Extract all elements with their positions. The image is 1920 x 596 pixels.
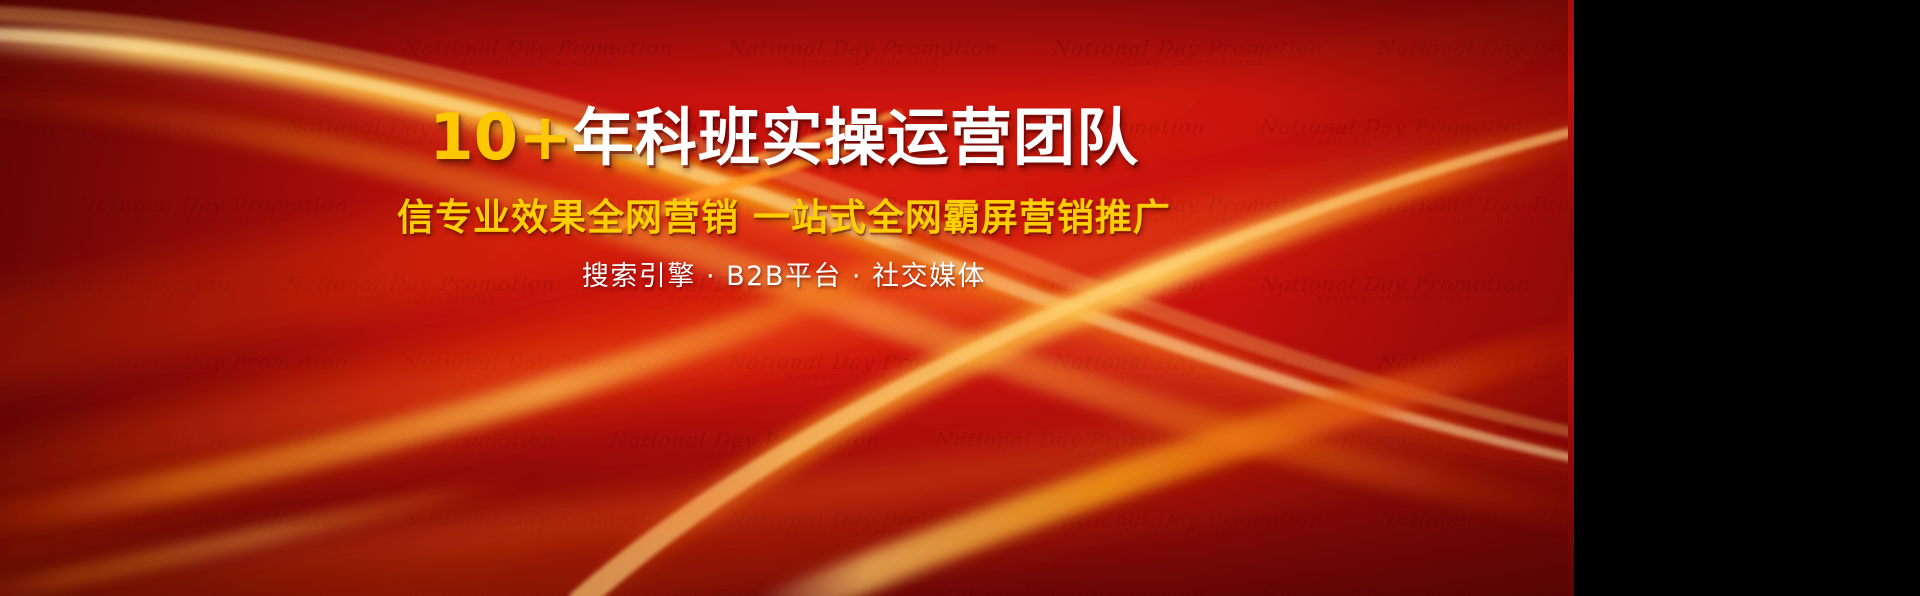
watermark-script-text: National Day Promotion <box>284 587 557 596</box>
watermark-script-text: National Day Promotion <box>77 352 350 373</box>
watermark-cell: National Day PromotionNATIONAL DAY PROMO… <box>285 430 556 460</box>
watermark-script-text: National Day Promotion <box>284 430 557 451</box>
watermark-caps-text: NATIONAL DAY PROMOTION <box>1378 217 1568 225</box>
watermark-row: National Day PromotionNATIONAL DAY PROMO… <box>0 430 1568 460</box>
watermark-script-text: National Day Promotion <box>1377 352 1568 373</box>
watermark-script-text: National Day Promotion <box>727 352 1000 373</box>
watermark-caps-text: NATIONAL DAY PROMOTION <box>1378 531 1568 539</box>
ribbon-thin-line-mid <box>600 144 854 236</box>
watermark-script-text: National Day Promotion <box>1052 38 1325 59</box>
watermark-script-text: National Day Promotion <box>1377 38 1568 59</box>
ribbon-center-swoosh <box>560 104 1568 596</box>
watermark-cell: National Day PromotionNATIONAL DAY PROMO… <box>1378 38 1568 68</box>
watermark-cell: National Day PromotionNATIONAL DAY PROMO… <box>1053 509 1324 539</box>
watermark-caps-text: NATIONAL DAY PROMOTION <box>403 217 674 225</box>
ribbon-filament-top <box>0 4 1568 450</box>
watermark-caps-text: NATIONAL DAY PROMOTION <box>285 296 556 304</box>
watermark-script-text: National Day Promotion <box>1377 195 1568 216</box>
watermark-cell: National Day PromotionNATIONAL DAY PROMO… <box>0 274 231 304</box>
watermark-script-text: National Day Promotion <box>609 117 882 138</box>
watermark-caps-text: NATIONAL DAY PROMOTION <box>610 139 881 147</box>
banner-artwork: National Day PromotionNATIONAL DAY PROMO… <box>0 0 1568 596</box>
banner-root: National Day PromotionNATIONAL DAY PROMO… <box>0 0 1920 596</box>
watermark-script-text: National Day Promotion <box>0 274 232 295</box>
watermark-script-text: National Day Promotion <box>1052 352 1325 373</box>
watermark-cell: National Day PromotionNATIONAL DAY PROMO… <box>78 352 349 382</box>
watermark-row: National Day PromotionNATIONAL DAY PROMO… <box>0 38 1568 68</box>
watermark-cell: National Day PromotionNATIONAL DAY PROMO… <box>285 587 556 596</box>
sheen-band-1 <box>0 100 1568 596</box>
watermark-cell: National Day PromotionNATIONAL DAY PROMO… <box>0 430 231 460</box>
golden-ribbon-layer <box>0 0 1568 596</box>
watermark-cell: National Day PromotionNATIONAL DAY PROMO… <box>78 509 349 539</box>
watermark-cell: National Day PromotionNATIONAL DAY PROMO… <box>1378 352 1568 382</box>
watermark-caps-text: NATIONAL DAY PROMOTION <box>1053 217 1324 225</box>
watermark-caps-text: NATIONAL DAY PROMOTION <box>1260 296 1531 304</box>
watermark-caps-text: NATIONAL DAY PROMOTION <box>728 374 999 382</box>
watermark-cell: National Day PromotionNATIONAL DAY PROMO… <box>1378 195 1568 225</box>
watermark-script-text: National Day Promotion <box>402 509 675 530</box>
watermark-script-text: National Day Promotion <box>284 274 557 295</box>
watermark-script-text: National Day Promotion <box>934 587 1207 596</box>
ribbon-lower-right <box>760 306 1568 596</box>
ribbon-svg <box>0 0 1568 596</box>
watermark-script-text: National Day Promotion <box>609 430 882 451</box>
watermark-script-text: National Day Promotion <box>0 587 232 596</box>
watermark-caps-text: NATIONAL DAY PROMOTION <box>78 374 349 382</box>
watermark-cell: National Day PromotionNATIONAL DAY PROMO… <box>1260 587 1531 596</box>
watermark-script-text: National Day Promotion <box>77 195 350 216</box>
ribbon-thin-line-mid2 <box>740 110 902 168</box>
watermark-cell: National Day PromotionNATIONAL DAY PROMO… <box>403 352 674 382</box>
watermark-caps-text: NATIONAL DAY PROMOTION <box>1378 60 1568 68</box>
watermark-cell: National Day PromotionNATIONAL DAY PROMO… <box>1260 117 1531 147</box>
tagline: 搜索引擎 · B2B平台 · 社交媒体 <box>0 260 1568 294</box>
watermark-caps-text: NATIONAL DAY PROMOTION <box>935 296 1206 304</box>
watermark-script-text: National Day Promotion <box>77 38 350 59</box>
watermark-cell: National Day PromotionNATIONAL DAY PROMO… <box>728 38 999 68</box>
banner-text-block: 10+年科班实操运营团队 信专业效果全网营销 一站式全网霸屏营销推广 搜索引擎 … <box>0 0 1568 596</box>
watermark-cell: National Day PromotionNATIONAL DAY PROMO… <box>610 430 881 460</box>
watermark-script-text: National Day Promotion <box>934 274 1207 295</box>
watermark-cell: National Day PromotionNATIONAL DAY PROMO… <box>403 38 674 68</box>
watermark-script-text: National Day Promotion <box>0 430 232 451</box>
watermark-caps-text: NATIONAL DAY PROMOTION <box>728 217 999 225</box>
watermark-cell: National Day PromotionNATIONAL DAY PROMO… <box>728 195 999 225</box>
watermark-cell: National Day PromotionNATIONAL DAY PROMO… <box>403 195 674 225</box>
watermark-caps-text: NATIONAL DAY PROMOTION <box>935 139 1206 147</box>
watermark-script-text: National Day Promotion <box>609 274 882 295</box>
watermark-caps-text: NATIONAL DAY PROMOTION <box>0 296 231 304</box>
watermark-cell: National Day PromotionNATIONAL DAY PROMO… <box>728 509 999 539</box>
ribbon-center-highlight <box>568 110 1568 596</box>
watermark-cell: National Day PromotionNATIONAL DAY PROMO… <box>285 117 556 147</box>
watermark-cell: National Day PromotionNATIONAL DAY PROMO… <box>0 587 231 596</box>
watermark-script-text: National Day Promotion <box>727 38 1000 59</box>
watermark-cell: National Day PromotionNATIONAL DAY PROMO… <box>285 274 556 304</box>
watermark-caps-text: NATIONAL DAY PROMOTION <box>1260 139 1531 147</box>
artwork-right-edge-strip <box>1568 0 1574 596</box>
subheadline: 信专业效果全网营销 一站式全网霸屏营销推广 <box>0 196 1568 240</box>
watermark-cell: National Day PromotionNATIONAL DAY PROMO… <box>610 117 881 147</box>
watermark-cell: National Day PromotionNATIONAL DAY PROMO… <box>610 587 881 596</box>
watermark-row: National Day PromotionNATIONAL DAY PROMO… <box>0 352 1568 382</box>
watermark-script-text: National Day Promotion <box>402 352 675 373</box>
watermark-caps-text: NATIONAL DAY PROMOTION <box>935 452 1206 460</box>
watermark-cell: National Day PromotionNATIONAL DAY PROMO… <box>935 117 1206 147</box>
watermark-row: National Day PromotionNATIONAL DAY PROMO… <box>0 509 1568 539</box>
watermark-caps-text: NATIONAL DAY PROMOTION <box>610 296 881 304</box>
watermark-cell: National Day PromotionNATIONAL DAY PROMO… <box>1260 430 1531 460</box>
watermark-caps-text: NATIONAL DAY PROMOTION <box>728 531 999 539</box>
ribbon-bottom-left <box>0 468 534 596</box>
ribbon-glow-top <box>0 34 1568 516</box>
watermark-caps-text: NATIONAL DAY PROMOTION <box>1260 452 1531 460</box>
watermark-script-text: National Day Promotion <box>727 195 1000 216</box>
watermark-caps-text: NATIONAL DAY PROMOTION <box>0 452 231 460</box>
watermark-layer: National Day PromotionNATIONAL DAY PROMO… <box>0 0 1568 596</box>
watermark-row: National Day PromotionNATIONAL DAY PROMO… <box>0 195 1568 225</box>
ribbon-bottom-band <box>0 358 1568 596</box>
ribbon-cross-swoosh <box>0 166 1056 544</box>
watermark-script-text: National Day Promotion <box>1259 117 1532 138</box>
watermark-cell: National Day PromotionNATIONAL DAY PROMO… <box>935 274 1206 304</box>
watermark-script-text: National Day Promotion <box>934 430 1207 451</box>
watermark-cell: National Day PromotionNATIONAL DAY PROMO… <box>78 195 349 225</box>
watermark-cell: National Day PromotionNATIONAL DAY PROMO… <box>403 509 674 539</box>
watermark-script-text: National Day Promotion <box>402 195 675 216</box>
watermark-cell: National Day PromotionNATIONAL DAY PROMO… <box>935 430 1206 460</box>
watermark-cell: National Day PromotionNATIONAL DAY PROMO… <box>1053 195 1324 225</box>
watermark-row: National Day PromotionNATIONAL DAY PROMO… <box>0 117 1568 147</box>
background-side-shading <box>0 0 1568 596</box>
watermark-cell: National Day PromotionNATIONAL DAY PROMO… <box>610 274 881 304</box>
canvas-right-filler <box>1568 0 1920 596</box>
watermark-script-text: National Day Promotion <box>1259 587 1532 596</box>
watermark-caps-text: NATIONAL DAY PROMOTION <box>403 60 674 68</box>
watermark-script-text: National Day Promotion <box>77 509 350 530</box>
watermark-script-text: National Day Promotion <box>727 509 1000 530</box>
watermark-caps-text: NATIONAL DAY PROMOTION <box>285 452 556 460</box>
ribbon-top-secondary <box>0 86 1568 538</box>
watermark-script-text: National Day Promotion <box>609 587 882 596</box>
watermark-cell: National Day PromotionNATIONAL DAY PROMO… <box>0 117 231 147</box>
watermark-caps-text: NATIONAL DAY PROMOTION <box>78 531 349 539</box>
headline-number: 10+ <box>429 101 572 175</box>
watermark-script-text: National Day Promotion <box>1259 274 1532 295</box>
watermark-caps-text: NATIONAL DAY PROMOTION <box>1053 374 1324 382</box>
watermark-script-text: National Day Promotion <box>1052 509 1325 530</box>
watermark-cell: National Day PromotionNATIONAL DAY PROMO… <box>78 38 349 68</box>
background-vignette <box>0 0 1568 596</box>
watermark-script-text: National Day Promotion <box>402 38 675 59</box>
watermark-cell: National Day PromotionNATIONAL DAY PROMO… <box>1378 509 1568 539</box>
watermark-caps-text: NATIONAL DAY PROMOTION <box>1053 531 1324 539</box>
watermark-cell: National Day PromotionNATIONAL DAY PROMO… <box>1053 38 1324 68</box>
watermark-cell: National Day PromotionNATIONAL DAY PROMO… <box>935 587 1206 596</box>
watermark-script-text: National Day Promotion <box>934 117 1207 138</box>
ribbon-glow-center <box>0 52 1568 492</box>
watermark-script-text: National Day Promotion <box>0 117 232 138</box>
watermark-script-text: National Day Promotion <box>1377 509 1568 530</box>
watermark-caps-text: NATIONAL DAY PROMOTION <box>610 452 881 460</box>
headline-text: 年科班实操运营团队 <box>572 101 1139 174</box>
sheen-band-3 <box>0 330 1568 596</box>
watermark-script-text: National Day Promotion <box>284 117 557 138</box>
headline: 10+年科班实操运营团队 <box>0 104 1568 172</box>
watermark-caps-text: NATIONAL DAY PROMOTION <box>1378 374 1568 382</box>
watermark-caps-text: NATIONAL DAY PROMOTION <box>285 139 556 147</box>
watermark-caps-text: NATIONAL DAY PROMOTION <box>403 531 674 539</box>
ribbon-top-highlight <box>0 26 1568 476</box>
watermark-caps-text: NATIONAL DAY PROMOTION <box>78 60 349 68</box>
watermark-cell: National Day PromotionNATIONAL DAY PROMO… <box>728 352 999 382</box>
watermark-script-text: National Day Promotion <box>1259 430 1532 451</box>
watermark-row: National Day PromotionNATIONAL DAY PROMO… <box>0 274 1568 304</box>
watermark-caps-text: NATIONAL DAY PROMOTION <box>1053 60 1324 68</box>
watermark-caps-text: NATIONAL DAY PROMOTION <box>728 60 999 68</box>
watermark-script-text: National Day Promotion <box>1052 195 1325 216</box>
watermark-cell: National Day PromotionNATIONAL DAY PROMO… <box>1260 274 1531 304</box>
watermark-cell: National Day PromotionNATIONAL DAY PROMO… <box>1053 352 1324 382</box>
watermark-caps-text: NATIONAL DAY PROMOTION <box>403 374 674 382</box>
watermark-caps-text: NATIONAL DAY PROMOTION <box>0 139 231 147</box>
sheen-band-2 <box>0 0 1568 400</box>
watermark-row: National Day PromotionNATIONAL DAY PROMO… <box>0 587 1568 596</box>
watermark-caps-text: NATIONAL DAY PROMOTION <box>78 217 349 225</box>
ribbon-top-main <box>0 20 1568 486</box>
